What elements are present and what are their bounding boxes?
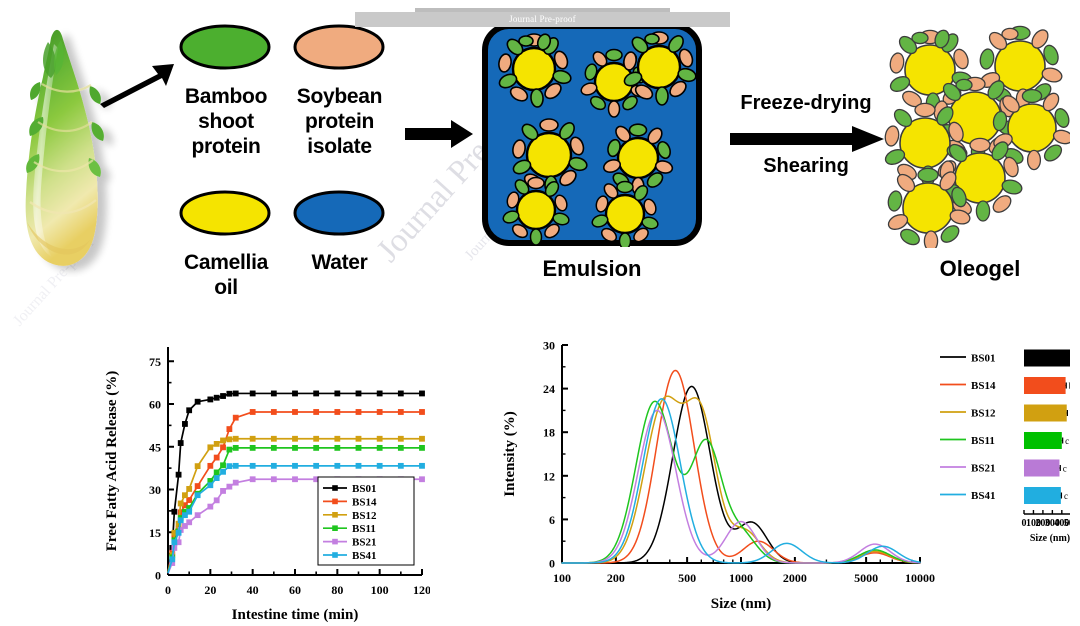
ffa-y-tick-label: 60 — [149, 398, 161, 412]
ffa-legend-marker-BS14 — [332, 499, 338, 505]
inset-bar-BS11 — [1024, 432, 1062, 449]
ffa-marker-BS01 — [271, 391, 276, 396]
ffa-marker-BS12 — [195, 464, 200, 469]
ffa-marker-BS41 — [172, 540, 177, 545]
ffa-legend-marker-BS21 — [332, 539, 338, 545]
ffa-marker-BS11 — [356, 445, 361, 450]
bamboo-shoot-protein-swatch — [178, 22, 273, 72]
arrow-ingredients-to-emulsion-icon — [405, 118, 475, 150]
ffa-marker-BS14 — [419, 409, 424, 414]
ffa-marker-BS11 — [250, 445, 255, 450]
ffa-marker-BS11 — [214, 470, 219, 475]
ffa-marker-BS21 — [271, 477, 276, 482]
ffa-marker-BS11 — [292, 445, 297, 450]
ffa-marker-BS12 — [227, 437, 232, 442]
ffa-marker-BS12 — [214, 441, 219, 446]
bamboo-shoot-protein-label: Bamboo shoot protein — [170, 84, 282, 159]
graphical-abstract: Journal Pre-proof Journal Pre-proof Jour… — [0, 0, 1080, 626]
ffa-x-tick-label: 40 — [247, 583, 259, 597]
ffa-marker-BS21 — [292, 477, 297, 482]
ffa-y-tick-label: 30 — [149, 483, 161, 497]
ffa-marker-BS12 — [187, 486, 192, 491]
arrow-emulsion-to-oleogel-icon — [730, 125, 885, 153]
ffa-marker-BS01 — [178, 440, 183, 445]
ffa-y-tick-label: 0 — [155, 569, 161, 583]
psd-y-tick-label: 24 — [543, 382, 555, 396]
ffa-marker-BS14 — [292, 409, 297, 414]
ffa-marker-BS41 — [170, 557, 175, 562]
ffa-marker-BS21 — [227, 484, 232, 489]
ffa-marker-BS01 — [227, 391, 232, 396]
ffa-marker-BS11 — [220, 463, 225, 468]
ffa-marker-BS41 — [335, 463, 340, 468]
ffa-marker-BS41 — [178, 518, 183, 523]
ffa-marker-BS01 — [377, 391, 382, 396]
camellia-oil-swatch — [178, 188, 273, 238]
psd-legend-label-BS11: BS11 — [971, 435, 995, 447]
psd-x-tick-label: 100 — [553, 571, 571, 585]
psd-x-tick-label: 2000 — [783, 571, 807, 585]
camellia-oil-label: Camellia oil — [170, 250, 282, 300]
ffa-y-tick-label: 45 — [149, 440, 161, 454]
ffa-marker-BS14 — [208, 463, 213, 468]
ffa-marker-BS01 — [214, 395, 219, 400]
ffa-marker-BS12 — [233, 436, 238, 441]
psd-legend-label-BS21: BS21 — [971, 463, 995, 475]
ffa-marker-BS11 — [233, 445, 238, 450]
ffa-marker-BS14 — [227, 426, 232, 431]
ffa-marker-BS14 — [356, 409, 361, 414]
ffa-marker-BS41 — [398, 463, 403, 468]
ffa-marker-BS01 — [250, 391, 255, 396]
inset-significance-BS41: c — [1064, 491, 1068, 501]
ffa-marker-BS21 — [233, 480, 238, 485]
psd-y-tick-label: 0 — [549, 557, 555, 571]
inset-bar-BS01 — [1024, 350, 1070, 367]
ffa-x-tick-label: 100 — [371, 583, 389, 597]
ffa-marker-BS41 — [377, 463, 382, 468]
ffa-marker-BS12 — [292, 436, 297, 441]
inset-bar-BS12 — [1024, 405, 1067, 422]
ffa-x-tick-label: 20 — [204, 583, 216, 597]
ffa-marker-BS14 — [377, 409, 382, 414]
emulsion-label: Emulsion — [512, 256, 672, 282]
particle-size-distribution-chart: 100200500100020005000100000612182430Size… — [490, 325, 1070, 625]
ffa-marker-BS12 — [250, 436, 255, 441]
ffa-marker-BS21 — [214, 498, 219, 503]
water-label: Water — [282, 250, 397, 275]
ffa-release-chart: 02040608010012001530456075Intestine time… — [90, 325, 430, 625]
ffa-marker-BS12 — [182, 493, 187, 498]
ffa-marker-BS21 — [250, 477, 255, 482]
psd-y-tick-label: 6 — [549, 513, 555, 527]
ffa-marker-BS41 — [356, 463, 361, 468]
ffa-x-tick-label: 0 — [165, 583, 171, 597]
ffa-x-tick-label: 60 — [289, 583, 301, 597]
ffa-marker-BS11 — [314, 445, 319, 450]
ffa-marker-BS41 — [419, 463, 424, 468]
ffa-legend-marker-BS01 — [332, 485, 338, 491]
ffa-marker-BS12 — [335, 436, 340, 441]
inset-bar-BS41 — [1024, 487, 1061, 504]
ffa-marker-BS21 — [220, 488, 225, 493]
psd-x-tick-label: 5000 — [854, 571, 878, 585]
ffa-legend-label-BS12: BS12 — [352, 510, 377, 522]
ffa-marker-BS41 — [271, 463, 276, 468]
ffa-marker-BS12 — [356, 436, 361, 441]
ffa-marker-BS14 — [335, 409, 340, 414]
ffa-marker-BS01 — [419, 391, 424, 396]
ffa-legend-marker-BS41 — [332, 552, 338, 558]
ffa-marker-BS12 — [314, 436, 319, 441]
psd-x-axis-title: Size (nm) — [711, 596, 771, 612]
ffa-marker-BS14 — [271, 409, 276, 414]
ffa-marker-BS41 — [314, 463, 319, 468]
psd-legend-label-BS12: BS12 — [971, 408, 996, 420]
ffa-marker-BS41 — [250, 463, 255, 468]
ffa-marker-BS12 — [208, 445, 213, 450]
ffa-x-axis-title: Intestine time (min) — [232, 607, 359, 623]
journal-preproof-banner: Journal Pre-proof — [355, 12, 730, 27]
ffa-marker-BS21 — [419, 477, 424, 482]
ffa-marker-BS12 — [377, 436, 382, 441]
inset-bar-BS14 — [1024, 377, 1066, 394]
ffa-marker-BS01 — [208, 397, 213, 402]
ffa-legend-label-BS14: BS14 — [352, 496, 377, 508]
arrow-bamboo-to-ingredients-icon — [96, 60, 176, 110]
inset-significance-BS11: c — [1065, 436, 1069, 446]
water-swatch — [292, 188, 387, 238]
ffa-marker-BS14 — [195, 483, 200, 488]
psd-y-axis-title: Intensity (%) — [502, 411, 518, 496]
psd-y-tick-label: 30 — [543, 339, 555, 353]
ffa-marker-BS41 — [208, 483, 213, 488]
ffa-legend-label-BS11: BS11 — [352, 523, 376, 535]
ffa-marker-BS14 — [250, 409, 255, 414]
psd-x-tick-label: 500 — [678, 571, 696, 585]
ffa-marker-BS01 — [314, 391, 319, 396]
ffa-marker-BS11 — [377, 445, 382, 450]
ffa-marker-BS01 — [335, 391, 340, 396]
ffa-legend-label-BS01: BS01 — [352, 483, 376, 495]
ffa-marker-BS11 — [335, 445, 340, 450]
soybean-protein-isolate-label: Soybean protein isolate — [282, 84, 397, 159]
soybean-protein-isolate-swatch — [292, 22, 387, 72]
ffa-marker-BS12 — [271, 436, 276, 441]
ffa-marker-BS12 — [220, 438, 225, 443]
emulsion-vessel — [481, 22, 703, 247]
process-schematic: Bamboo shoot protein Soybean protein iso… — [0, 0, 1080, 315]
ffa-marker-BS21 — [208, 504, 213, 509]
ffa-marker-BS01 — [187, 408, 192, 413]
ffa-marker-BS21 — [195, 513, 200, 518]
ffa-marker-BS12 — [398, 436, 403, 441]
ffa-marker-BS41 — [195, 493, 200, 498]
ffa-marker-BS12 — [419, 436, 424, 441]
ffa-legend-label-BS41: BS41 — [352, 550, 376, 562]
inset-x-tick-label: 500 — [1064, 518, 1070, 529]
ffa-marker-BS01 — [182, 421, 187, 426]
ffa-marker-BS14 — [214, 455, 219, 460]
ffa-legend-marker-BS12 — [332, 512, 338, 518]
ffa-marker-BS01 — [356, 391, 361, 396]
ffa-marker-BS41 — [214, 476, 219, 481]
ffa-marker-BS41 — [220, 469, 225, 474]
ffa-y-tick-label: 75 — [149, 355, 161, 369]
inset-bar-BS21 — [1024, 460, 1059, 477]
ffa-marker-BS01 — [292, 391, 297, 396]
ffa-x-tick-label: 120 — [413, 583, 430, 597]
psd-y-tick-label: 18 — [543, 426, 555, 440]
psd-legend-label-BS01: BS01 — [971, 353, 995, 365]
ffa-legend-label-BS21: BS21 — [352, 537, 376, 549]
ffa-marker-BS12 — [178, 501, 183, 506]
psd-plot-area — [562, 345, 920, 563]
journal-preproof-banner-label: Journal Pre-proof — [355, 12, 730, 27]
ffa-marker-BS01 — [220, 393, 225, 398]
oleogel-label: Oleogel — [900, 256, 1060, 282]
ffa-marker-BS11 — [227, 447, 232, 452]
ffa-marker-BS14 — [233, 415, 238, 420]
oleogel-cluster — [880, 18, 1070, 248]
ffa-marker-BS01 — [195, 399, 200, 404]
shearing-label: Shearing — [716, 155, 896, 178]
ffa-marker-BS41 — [292, 463, 297, 468]
ffa-marker-BS01 — [172, 509, 177, 514]
ffa-marker-BS01 — [233, 391, 238, 396]
ffa-marker-BS14 — [220, 445, 225, 450]
ffa-marker-BS41 — [227, 464, 232, 469]
ffa-marker-BS41 — [176, 530, 181, 535]
ffa-marker-BS21 — [187, 520, 192, 525]
psd-y-tick-label: 12 — [543, 469, 555, 483]
ffa-marker-BS41 — [187, 509, 192, 514]
ffa-y-axis-title: Free Fatty Acid Release (%) — [104, 371, 120, 552]
inset-significance-BS14: b — [1069, 381, 1070, 391]
ffa-marker-BS01 — [398, 391, 403, 396]
ffa-x-tick-label: 80 — [331, 583, 343, 597]
ffa-marker-BS11 — [398, 445, 403, 450]
psd-x-tick-label: 200 — [607, 571, 625, 585]
ffa-marker-BS41 — [233, 463, 238, 468]
ffa-marker-BS01 — [176, 472, 181, 477]
psd-x-tick-label: 1000 — [729, 571, 753, 585]
ffa-y-tick-label: 15 — [149, 526, 161, 540]
freeze-drying-label: Freeze-drying — [716, 92, 896, 115]
ffa-legend-marker-BS11 — [332, 525, 338, 531]
ffa-marker-BS14 — [398, 409, 403, 414]
psd-legend-label-BS14: BS14 — [971, 380, 996, 392]
inset-significance-BS21: c — [1063, 464, 1067, 474]
inset-x-axis-title: Size (nm) — [1030, 533, 1070, 544]
ffa-marker-BS14 — [187, 497, 192, 502]
psd-legend-label-BS41: BS41 — [971, 490, 995, 502]
ffa-marker-BS14 — [314, 409, 319, 414]
psd-x-tick-label: 10000 — [905, 571, 935, 585]
ffa-marker-BS11 — [419, 445, 424, 450]
ffa-marker-BS11 — [271, 445, 276, 450]
